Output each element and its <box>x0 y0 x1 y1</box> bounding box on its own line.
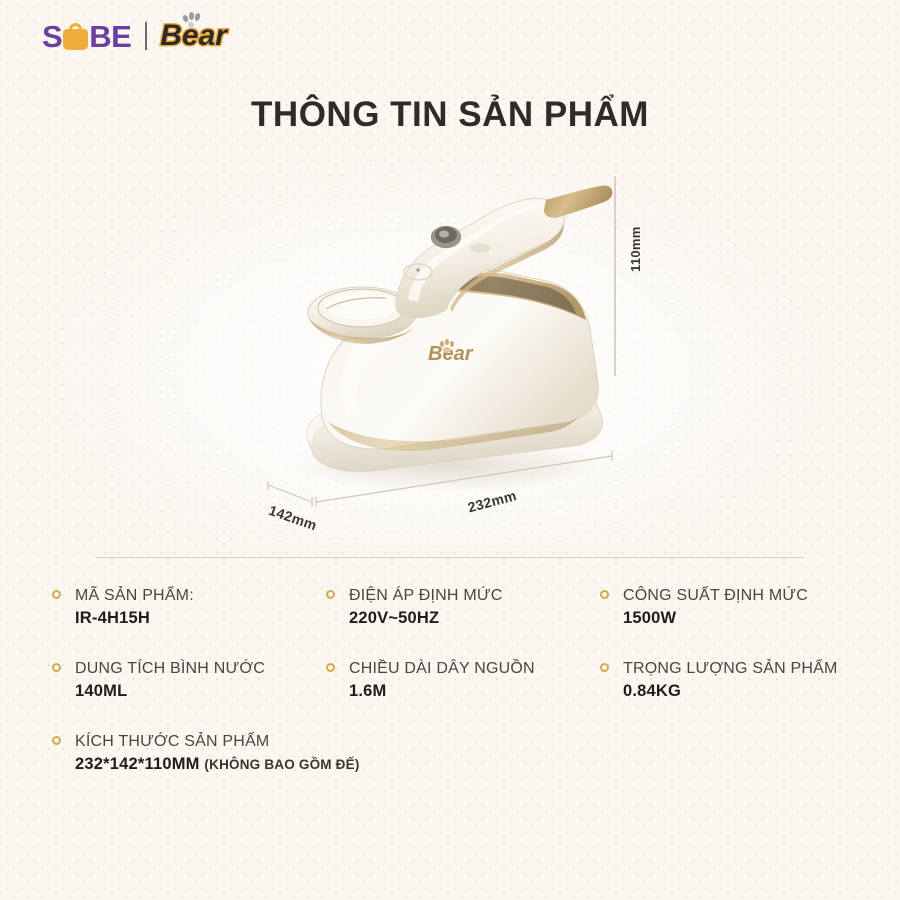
spec-list: MÃ SẢN PHẨM: IR-4H15H ĐIỆN ÁP ĐỊNH MỨC 2… <box>52 584 862 803</box>
spec-value: IR-4H15H <box>75 609 150 627</box>
bullet-icon <box>52 590 61 599</box>
spec-value: 1.6M <box>349 682 386 700</box>
product-image: Bear <box>250 160 650 520</box>
sube-letter-s: S <box>42 21 62 52</box>
spec-value: 220V~50HZ <box>349 609 439 627</box>
sube-letter-e: E <box>111 21 131 52</box>
sube-letter-b: B <box>89 21 111 52</box>
spec-label: CÔNG SUẤT ĐỊNH MỨC <box>623 587 808 604</box>
section-divider <box>96 557 804 558</box>
spec-value: 1500W <box>623 609 676 627</box>
spec-label: DUNG TÍCH BÌNH NƯỚC <box>75 660 265 677</box>
body-brand-logo: Bear <box>428 339 474 365</box>
spec-value: 232*142*110MM (KHÔNG BAO GỒM ĐẾ) <box>75 755 360 773</box>
spec-row: KÍCH THƯỚC SẢN PHẨM 232*142*110MM (KHÔNG… <box>52 730 862 777</box>
spec-label: MÃ SẢN PHẨM: <box>75 587 194 604</box>
spec-item-water-capacity: DUNG TÍCH BÌNH NƯỚC 140ML <box>52 657 326 704</box>
spec-item-voltage: ĐIỆN ÁP ĐỊNH MỨC 220V~50HZ <box>326 584 600 631</box>
spec-label: ĐIỆN ÁP ĐỊNH MỨC <box>349 587 502 604</box>
brand-logo-bar: S B E Bear <box>42 16 227 56</box>
page-title: THÔNG TIN SẢN PHẨM <box>0 95 900 135</box>
vertical-divider-icon <box>145 22 147 50</box>
spec-item-weight: TRỌNG LƯỢNG SẢN PHẨM 0.84KG <box>600 657 862 704</box>
bullet-icon <box>600 590 609 599</box>
sube-logo: S B E <box>42 21 131 52</box>
spec-row: DUNG TÍCH BÌNH NƯỚC 140ML CHIỀU DÀI DÂY … <box>52 657 862 704</box>
spec-value: 140ML <box>75 682 127 700</box>
spec-item-product-code: MÃ SẢN PHẨM: IR-4H15H <box>52 584 326 631</box>
spec-label: TRỌNG LƯỢNG SẢN PHẨM <box>623 660 838 677</box>
spec-item-power: CÔNG SUẤT ĐỊNH MỨC 1500W <box>600 584 862 631</box>
spec-value-note: (KHÔNG BAO GỒM ĐẾ) <box>204 757 359 772</box>
bullet-icon <box>326 663 335 672</box>
spec-row: MÃ SẢN PHẨM: IR-4H15H ĐIỆN ÁP ĐỊNH MỨC 2… <box>52 584 862 631</box>
dimension-label-height: 110mm <box>628 226 643 272</box>
spec-item-cord-length: CHIỀU DÀI DÂY NGUỒN 1.6M <box>326 657 600 704</box>
shopping-bag-icon <box>63 23 88 50</box>
height-dimension-line <box>614 176 616 376</box>
spec-label: CHIỀU DÀI DÂY NGUỒN <box>349 660 535 677</box>
product-info-infographic: S B E Bear THÔNG TIN SẢN PHẨM <box>0 0 900 900</box>
spec-value-main: 232*142*110MM <box>75 755 200 773</box>
spec-item-dimensions: KÍCH THƯỚC SẢN PHẨM 232*142*110MM (KHÔNG… <box>52 730 852 777</box>
bullet-icon <box>600 663 609 672</box>
spec-value: 0.84KG <box>623 682 681 700</box>
bullet-icon <box>52 736 61 745</box>
spec-label: KÍCH THƯỚC SẢN PHẨM <box>75 733 269 750</box>
paw-print-icon <box>182 12 204 30</box>
bear-logo: Bear <box>160 21 227 51</box>
bullet-icon <box>52 663 61 672</box>
bullet-icon <box>326 590 335 599</box>
